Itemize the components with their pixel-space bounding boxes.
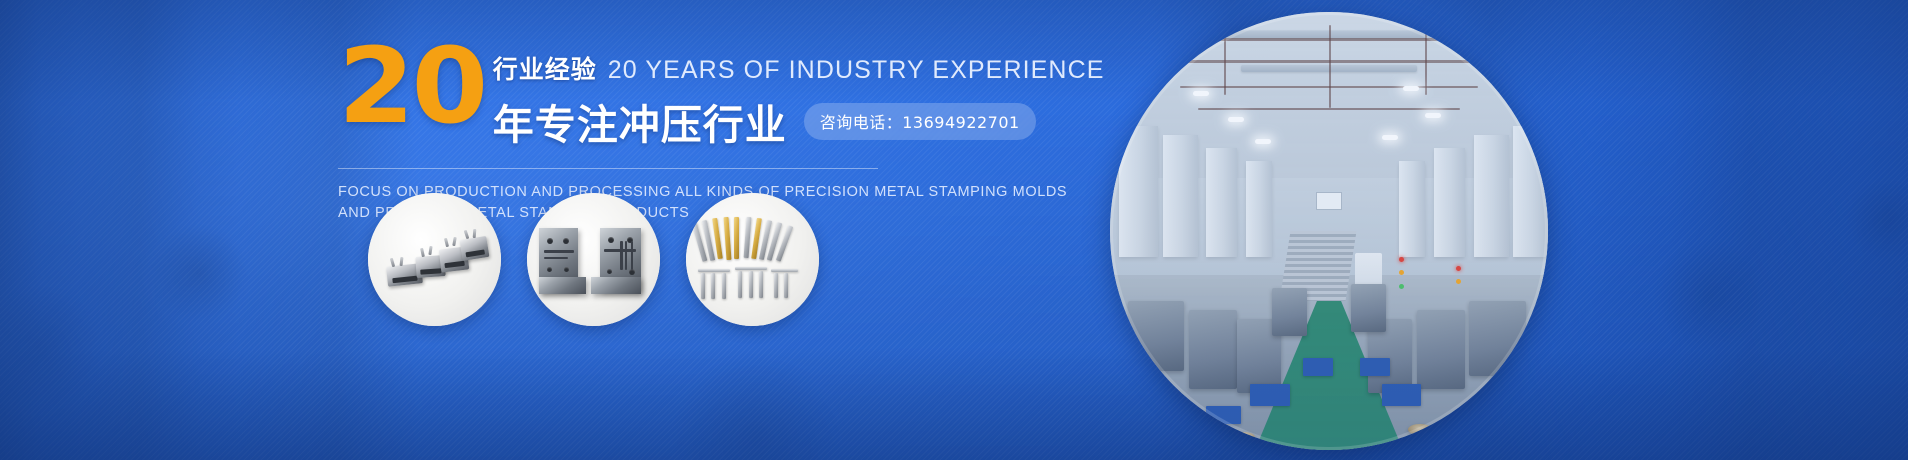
factory-workshop-photo[interactable] <box>1110 12 1548 450</box>
product-circle-metal-terminal-pins[interactable] <box>686 193 819 326</box>
headline-line-2: 年专注冲压行业 咨询电话：13694922701 <box>493 91 1105 151</box>
product-circle-group <box>368 193 819 326</box>
phone-badge-text: 咨询电话：13694922701 <box>820 109 1020 133</box>
product-circle-usb-connector-shells[interactable] <box>368 193 501 326</box>
headline-row: 20 行业经验 20 YEARS OF INDUSTRY EXPERIENCE … <box>338 40 1038 151</box>
experience-label-en: 20 YEARS OF INDUSTRY EXPERIENCE <box>608 56 1105 85</box>
metal-terminal-pins-photo <box>686 193 819 326</box>
stamping-mold-dies-photo <box>527 193 660 326</box>
focus-label-zh: 年专注冲压行业 <box>493 91 787 151</box>
phone-badge[interactable]: 咨询电话：13694922701 <box>804 103 1036 140</box>
headline-text-group: 行业经验 20 YEARS OF INDUSTRY EXPERIENCE 年专注… <box>493 40 1105 151</box>
years-number: 20 <box>338 42 485 131</box>
horizontal-divider <box>338 168 878 169</box>
experience-label-zh: 行业经验 <box>493 50 597 86</box>
hero-banner: 20 行业经验 20 YEARS OF INDUSTRY EXPERIENCE … <box>0 0 1908 460</box>
factory-scene <box>1110 12 1548 450</box>
usb-connector-shells-photo <box>368 193 501 326</box>
headline-line-1: 行业经验 20 YEARS OF INDUSTRY EXPERIENCE <box>493 50 1105 86</box>
product-circle-stamping-mold-dies[interactable] <box>527 193 660 326</box>
